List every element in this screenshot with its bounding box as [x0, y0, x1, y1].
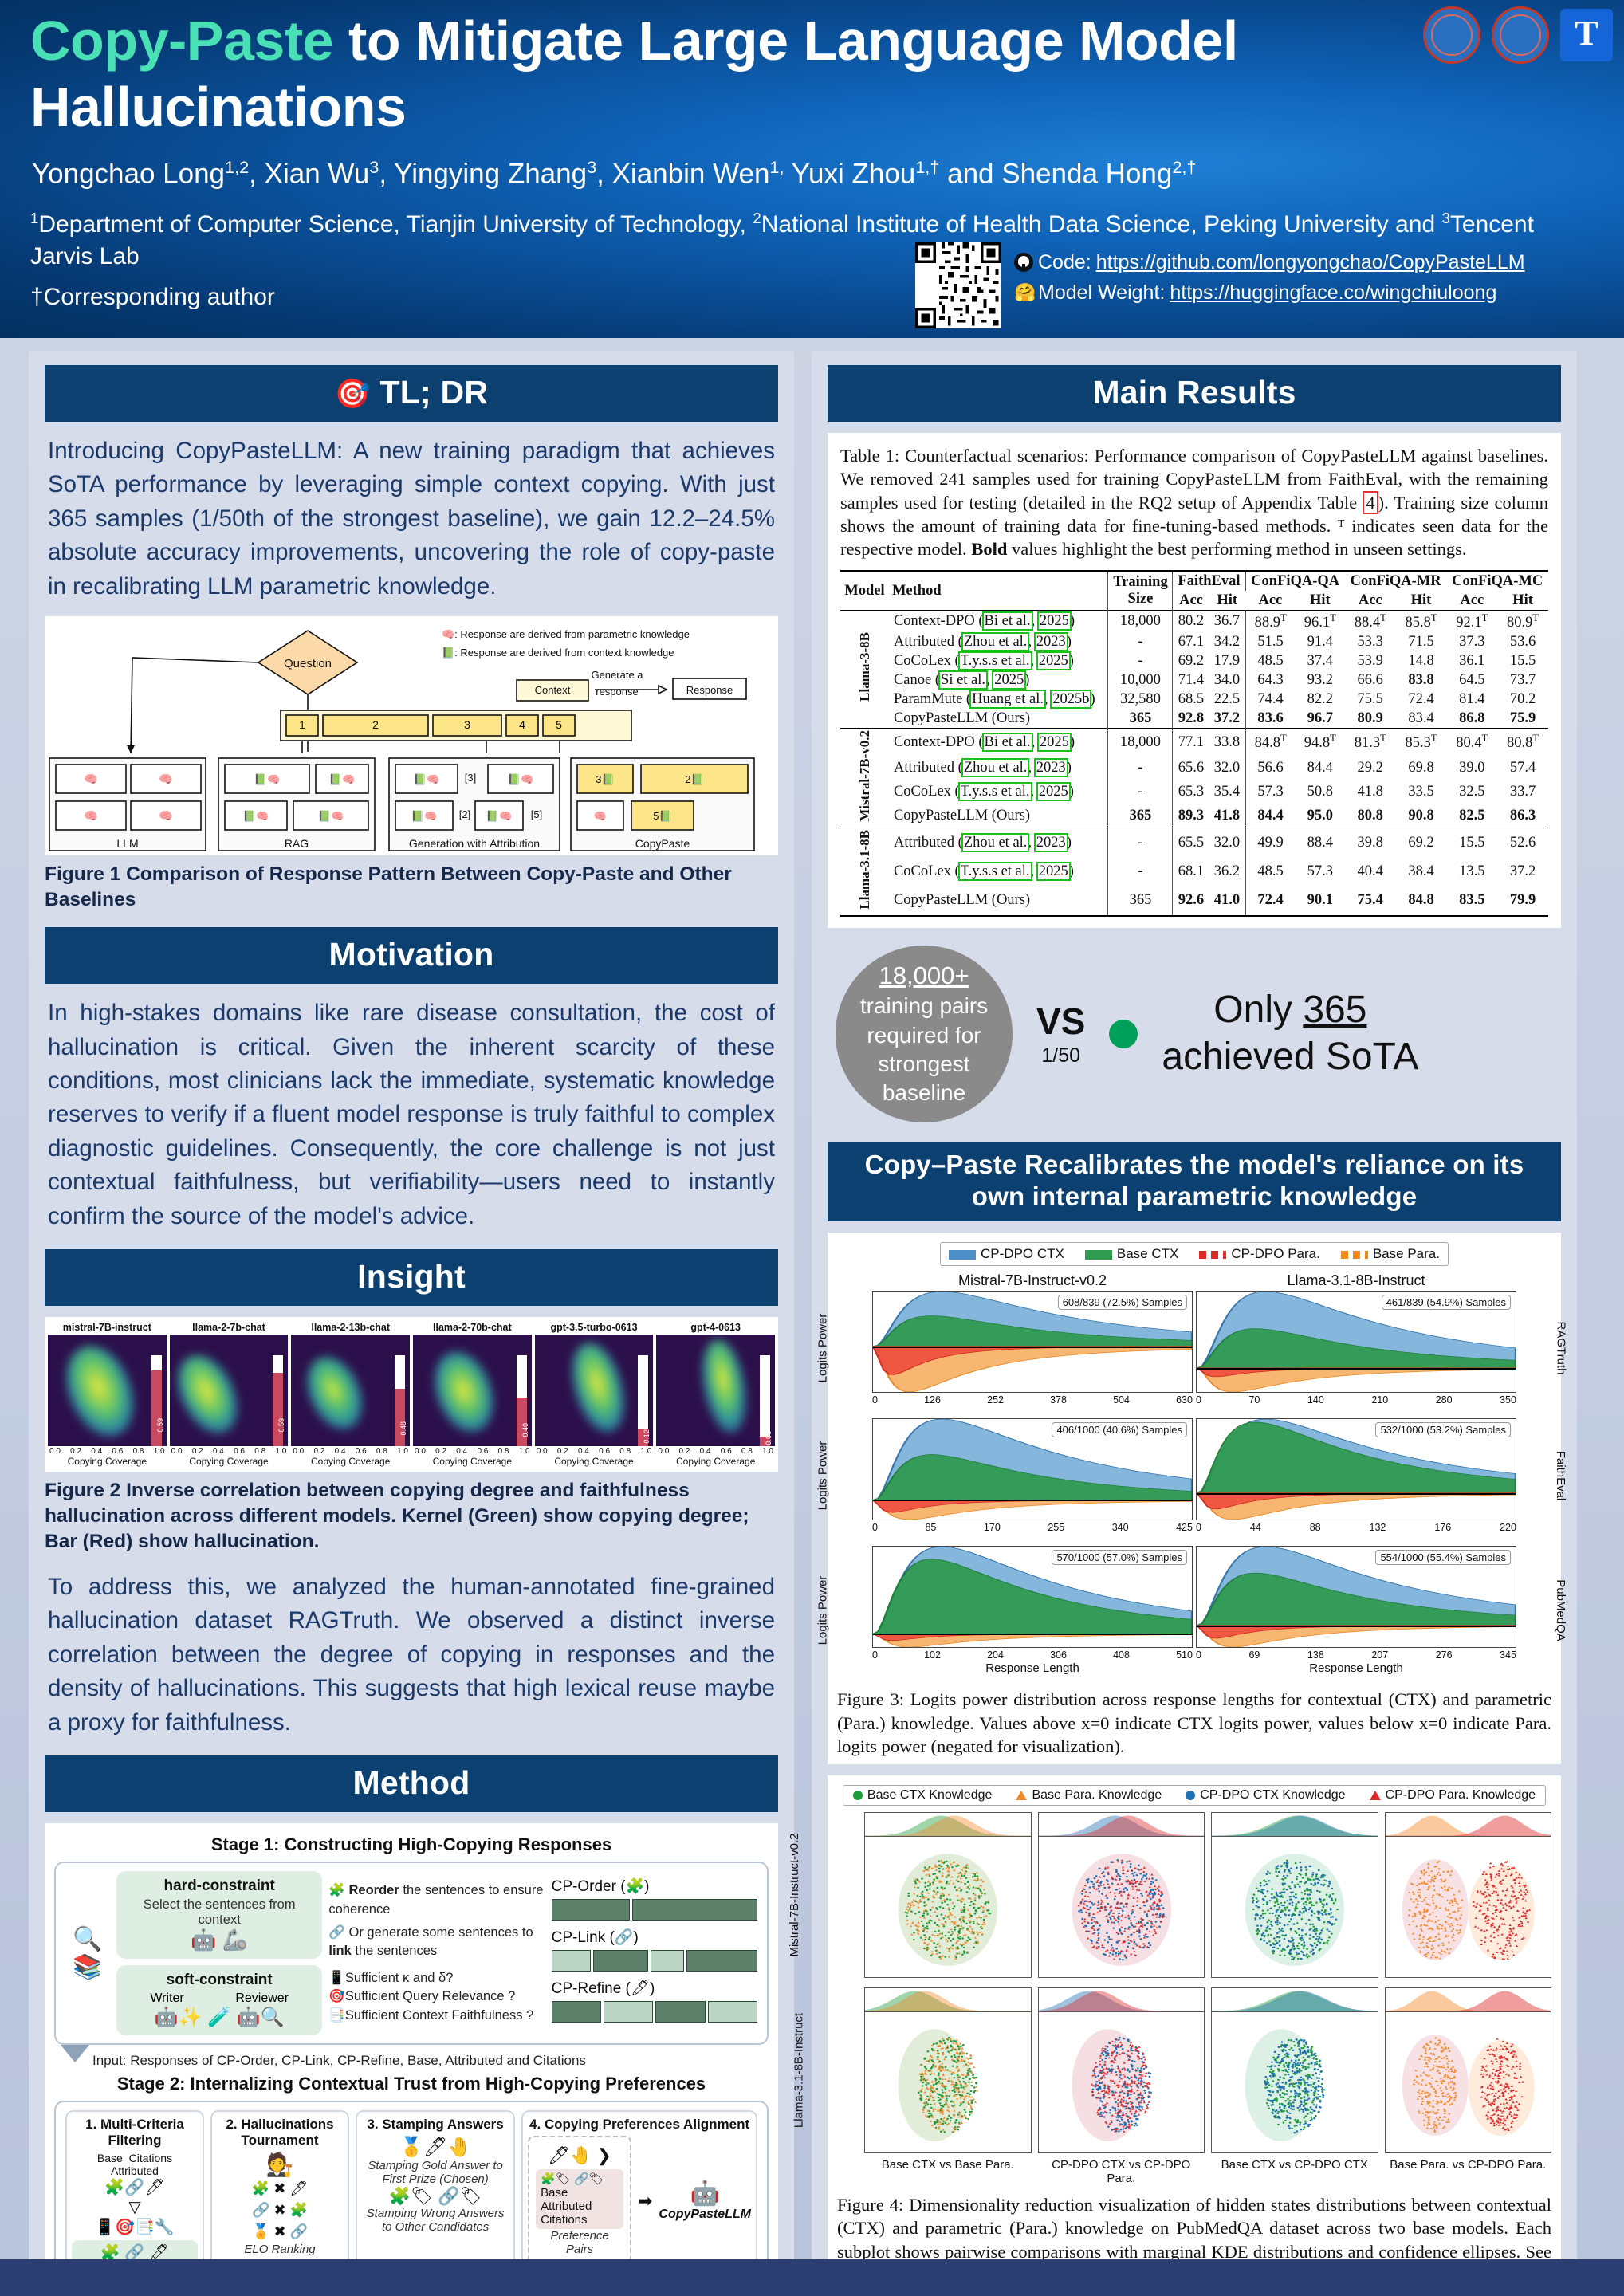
right-column: Main Results Table 1: Counterfactual sce… [812, 351, 1577, 2296]
svg-text:🧠: 🧠 [159, 809, 172, 822]
citation-year[interactable]: 2025 [1038, 653, 1069, 669]
bar-value: 0.59 [156, 1418, 164, 1433]
citation-author[interactable]: Zhou et al. [963, 835, 1028, 851]
col-confiqa-qa: ConFiQA-QA [1245, 571, 1345, 591]
figure-4-row-label: Llama-3.1-8B-Instruct [792, 2013, 805, 2128]
kde-xlabel: Copying Coverage [291, 1456, 410, 1467]
results-table: Model Method TrainingSize FaithEval ConF… [840, 570, 1548, 917]
metric-cell: 96.1T [1296, 611, 1345, 633]
kde-panel: llama-2-13b-chat 0.48 0.00.20.40.60.81.0… [291, 1322, 410, 1467]
metric-cell: 80.2 [1173, 611, 1209, 633]
metric-cell: 80.8T [1497, 729, 1548, 756]
scatter-plot [1038, 1836, 1205, 1978]
target-icon: 🎯 [335, 377, 371, 410]
citation-year[interactable]: 2025 [1038, 784, 1069, 800]
citation-year[interactable]: 2025 [1038, 863, 1069, 879]
section-header-method: Method [45, 1755, 778, 1812]
metric-cell: 85.3T [1396, 729, 1447, 756]
citation-author[interactable]: Huang et al. [971, 691, 1044, 707]
s2-3-title: 3. Stamping Answers [362, 2117, 509, 2133]
citation-author[interactable]: Bi et al. [984, 613, 1032, 629]
metric-cell: 37.4 [1296, 651, 1345, 670]
figure-4-panel [1211, 1812, 1378, 1978]
kde-xlabel: Copying Coverage [656, 1456, 775, 1467]
plot-area: 608/839 (72.5%) Samples-400-2000200400 [872, 1291, 1193, 1393]
baseline-circle: 18,000+ training pairs required for stro… [836, 946, 1013, 1122]
metric-cell: 88.4 [1296, 828, 1345, 858]
training-size: 18,000 [1108, 611, 1173, 633]
page-title: Copy-Paste to Mitigate Large Language Mo… [30, 8, 1338, 140]
chip [593, 1950, 648, 1972]
kde-plot: 0.12 [535, 1335, 654, 1446]
metric-cell: 90.8 [1396, 804, 1447, 828]
metric-cell: 68.5 [1173, 690, 1209, 709]
medal-stamp-icon: 🥇🖊🤚 [362, 2136, 509, 2159]
metric-cell: 91.4 [1296, 632, 1345, 651]
citation-author[interactable]: T.y.s.s et al. [960, 863, 1031, 879]
svg-text:5📗: 5📗 [653, 810, 671, 822]
col-method: Method [889, 571, 1108, 611]
metric-cell: 29.2 [1345, 756, 1396, 780]
weight-url[interactable]: https://huggingface.co/wingchiuloong [1170, 277, 1496, 308]
figure-4-rows: Mistral-7B-Instruct-v0.2 Llama-3.1-8B-In… [837, 1812, 1551, 2185]
figure-4-row [864, 1987, 1551, 2153]
citation-author[interactable]: Si et al. [940, 672, 986, 688]
metric-cell: 48.5 [1245, 651, 1296, 670]
metric-cell: 15.5 [1497, 651, 1548, 670]
baseline-desc: training pairs required for strongest ba… [836, 992, 1013, 1108]
citation-year[interactable]: 2023 [1036, 634, 1067, 650]
figure-4-col-labels: Base CTX vs Base Para.CP-DPO CTX vs CP-D… [864, 2156, 1551, 2185]
metric-cell: 33.8 [1209, 729, 1245, 756]
kde-plot: 0.06 [656, 1335, 775, 1446]
link-line: 🔗 Or generate some sentences to link the… [328, 1924, 545, 1961]
metric-cell: 92.8 [1173, 709, 1209, 729]
figure-3-panel: Logits Power608/839 (72.5%) Samples-400-… [872, 1291, 1193, 1406]
poster-root: Copy-Paste to Mitigate Large Language Mo… [0, 0, 1624, 2296]
metric-cell: 89.3 [1173, 804, 1209, 828]
metric-cell: 37.2 [1209, 709, 1245, 729]
poster-columns: 🎯 TL; DR Introducing CopyPasteLLM: A new… [0, 351, 1624, 2296]
citation-author[interactable]: T.y.s.s et al. [960, 653, 1031, 669]
citation-year[interactable]: 2025 [1039, 613, 1070, 629]
sub-hit: Hit [1497, 591, 1548, 611]
citation-year[interactable]: 2025 [993, 672, 1024, 688]
figure-4-panel [1038, 1812, 1205, 1978]
title-accent: Copy-Paste [30, 10, 333, 72]
legend-item: CP-DPO Para. Knowledge [1370, 1788, 1536, 1803]
sub-acc: Acc [1245, 591, 1296, 611]
figure-3-panel: PubMedQA554/1000 (55.4%) Samples05001000… [1196, 1546, 1516, 1675]
citation-year[interactable]: 2023 [1036, 760, 1067, 776]
code-url[interactable]: https://github.com/longyongchao/CopyPast… [1096, 247, 1525, 277]
metric-cell: 52.6 [1497, 828, 1548, 858]
marginal-kde-top [864, 1812, 1032, 1836]
scatter-plot [1385, 1836, 1552, 1978]
metric-cell: 85.8T [1396, 611, 1447, 633]
pku-logo [1492, 6, 1549, 64]
figure-4-panel [864, 1987, 1032, 2153]
axis-ticks-x: 069138207276345 [1196, 1648, 1516, 1661]
sample-count-badge: 570/1000 (57.0%) Samples [1052, 1550, 1187, 1565]
svg-text:2📗: 2📗 [685, 773, 703, 785]
metric-cell: 96.7 [1296, 709, 1345, 729]
check-2: 🎯Sufficient Query Relevance ? [328, 1987, 545, 2006]
metric-cell: 84.4 [1245, 804, 1296, 828]
figure-4-panel [1385, 1987, 1552, 2153]
axis-ticks-x: 0126252378504630 [872, 1393, 1193, 1406]
svg-text:🧠: 🧠 [159, 773, 172, 785]
writer-label: Writer [150, 1991, 183, 2006]
metric-cell: 69.2 [1173, 651, 1209, 670]
section-header-motivation: Motivation [45, 927, 778, 984]
reviewer-label: Reviewer [235, 1991, 289, 2006]
metric-cell: 80.8 [1345, 804, 1396, 828]
metric-cell: 66.6 [1345, 670, 1396, 690]
scatter-plot [1211, 2011, 1378, 2153]
hallucination-bar [151, 1370, 162, 1446]
tldr-body: Introducing CopyPasteLLM: A new training… [45, 433, 778, 603]
svg-text:[2]: [2] [459, 808, 470, 820]
metric-cell: 81.3T [1345, 729, 1396, 756]
kde-panel-title: gpt-3.5-turbo-0613 [535, 1322, 654, 1333]
model-name: Llama-3-8B [840, 611, 889, 729]
svg-text:Question: Question [284, 657, 332, 670]
legend-dot-base-ctx [853, 1791, 863, 1800]
figure-4-panel [1211, 1987, 1378, 2153]
vs-text: VS [1036, 1000, 1085, 1043]
citation-year[interactable]: 2023 [1036, 835, 1067, 851]
figure-1-caption: Figure 1 Comparison of Response Pattern … [45, 862, 778, 913]
citation-author[interactable]: Bi et al. [984, 734, 1032, 750]
metric-cell: 41.0 [1209, 886, 1245, 915]
metric-cell: 37.3 [1446, 632, 1497, 651]
stage1-box: 🔍📚 hard-constraint Select the sentences … [54, 1862, 769, 2045]
method-name: CoCoLex (T.y.s.s et al., 2025) [889, 651, 1108, 670]
reorder-line: 🧩 Reorder the sentences to ensure cohere… [328, 1881, 545, 1919]
metric-cell: 49.9 [1245, 828, 1296, 858]
metric-cell: 36.1 [1446, 651, 1497, 670]
table-1-caption: Table 1: Counterfactual scenarios: Perfo… [840, 444, 1548, 560]
metric-cell: 67.1 [1173, 632, 1209, 651]
metric-cell: 64.5 [1446, 670, 1497, 690]
section-header-tldr: 🎯 TL; DR [45, 365, 778, 422]
figure-2-caption: Figure 2 Inverse correlation between cop… [45, 1478, 778, 1555]
svg-text:response: response [596, 686, 638, 698]
kde-xaxis: 0.00.20.40.60.81.0 [413, 1446, 532, 1456]
citation-year[interactable]: 2025b [1052, 691, 1090, 707]
figure-4-row-label: Mistral-7B-Instruct-v0.2 [788, 1834, 801, 1957]
metric-cell: 53.9 [1345, 651, 1396, 670]
figure-3-caption: Figure 3: Logits power distribution acro… [837, 1688, 1551, 1758]
section-header-main-results: Main Results [828, 365, 1561, 422]
svg-text:Context: Context [535, 684, 571, 696]
tjut-logo [1423, 6, 1480, 64]
s2-4-title: 4. Copying Preferences Alignment [528, 2117, 751, 2133]
vs-fraction: 1/50 [1036, 1044, 1085, 1067]
training-size: - [1108, 632, 1173, 651]
svg-text:📗🧠: 📗🧠 [243, 810, 269, 822]
metric-cell: 69.8 [1396, 756, 1447, 780]
kde-xaxis: 0.00.20.40.60.81.0 [291, 1446, 410, 1456]
left-column: 🎯 TL; DR Introducing CopyPasteLLM: A new… [29, 351, 794, 2296]
sample-count-badge: 406/1000 (40.6%) Samples [1052, 1422, 1187, 1437]
chip [552, 1950, 591, 1972]
legend-dot-cpdpo-ctx [1186, 1791, 1195, 1800]
vs-label: VS 1/50 [1036, 1000, 1085, 1067]
sub-acc: Acc [1173, 591, 1209, 611]
metric-cell: 77.1 [1173, 729, 1209, 756]
metric-cell: 36.7 [1209, 611, 1245, 633]
section-header-recalibrate: Copy–Paste Recalibrates the model's reli… [828, 1142, 1561, 1222]
insight-body: To address this, we analyzed the human-a… [45, 1569, 778, 1740]
training-size: - [1108, 857, 1173, 886]
method-name: Canoe (Si et al., 2025) [889, 670, 1108, 690]
metric-cell: 64.3 [1245, 670, 1296, 690]
figure-4-col-label: Base CTX vs Base Para. [864, 2158, 1032, 2185]
method-name: Attributed (Zhou et al., 2023) [889, 632, 1108, 651]
kde-panel-title: mistral-7B-instruct [48, 1322, 167, 1333]
training-size: - [1108, 780, 1173, 804]
author-list: Yongchao Long1,2, Xian Wu3, Yingying Zha… [32, 156, 1579, 191]
results-table-wrap: Table 1: Counterfactual scenarios: Perfo… [828, 433, 1561, 928]
col-faitheval: FaithEval [1173, 571, 1245, 591]
results-table-body: Llama-3-8BContext-DPO (Bi et al., 2025)1… [840, 611, 1548, 916]
metric-cell: 71.5 [1396, 632, 1447, 651]
figure-1: Question 1 2 3 4 5 LLM RAG Generation wi… [45, 616, 778, 855]
stage2-title: Stage 2: Internalizing Contextual Trust … [54, 2074, 769, 2094]
match-list: 🧩 ✖ 🖊🔗 ✖ 🧩🏅 ✖ 🔗 [217, 2178, 343, 2243]
axis-label-y: Logits Power [816, 1314, 830, 1383]
figure-3-legend: CP-DPO CTX Base CTX CP-DPO Para. Base Pa… [940, 1242, 1449, 1266]
axis-ticks-x: 070140210280350 [1196, 1393, 1516, 1406]
figure-3-panel: FaithEval532/1000 (53.2%) Samples0500100… [1196, 1418, 1516, 1533]
figure-4: Base CTX Knowledge Base Para. Knowledge … [828, 1775, 1561, 2293]
axis-label-y: Logits Power [816, 1441, 830, 1511]
legend-item: CP-DPO Para. [1199, 1246, 1319, 1262]
metric-cell: 14.8 [1396, 651, 1447, 670]
metric-cell: 93.2 [1296, 670, 1345, 690]
figure-3-col-title: Mistral-7B-Instruct-v0.2 [872, 1272, 1193, 1289]
figure-3-col-title: Llama-3.1-8B-Instruct [1196, 1272, 1516, 1289]
axis-label-x: Response Length [872, 1661, 1193, 1675]
training-size: 365 [1108, 886, 1173, 915]
metric-cell: 33.5 [1396, 780, 1447, 804]
kde-panel-title: llama-2-7b-chat [170, 1322, 289, 1333]
legend-swatch-base-ctx [1085, 1250, 1112, 1260]
metric-cell: 88.4T [1345, 611, 1396, 633]
svg-text:🧠: 🧠 [594, 810, 607, 822]
method-name: CoCoLex (T.y.s.s et al., 2025) [889, 857, 1108, 886]
training-size: 365 [1108, 709, 1173, 729]
citation-author[interactable]: Zhou et al. [963, 760, 1028, 776]
plot-area: 406/1000 (40.6%) Samples0200400600 [872, 1418, 1193, 1520]
method-name: CopyPasteLLM (Ours) [889, 886, 1108, 915]
metric-cell: 75.4 [1345, 886, 1396, 915]
metric-cell: 48.5 [1245, 857, 1296, 886]
hard-constraint-text: Select the sentences from context [124, 1897, 314, 1928]
bar-value: 0.48 [399, 1421, 407, 1436]
svg-text:5: 5 [556, 718, 562, 731]
weights-link-row[interactable]: 🤗 Model Weight: https://huggingface.co/w… [1014, 277, 1525, 308]
metric-cell: 80.4T [1446, 729, 1497, 756]
search-and-books-icons: 🔍📚 [65, 1925, 110, 1981]
chip [632, 1899, 757, 1921]
marginal-kde-top [1385, 1987, 1552, 2011]
bar-value: 0.40 [521, 1423, 529, 1437]
citation-author[interactable]: Zhou et al. [963, 634, 1028, 650]
links-block: Code: https://github.com/longyongchao/Co… [1014, 247, 1525, 308]
metric-cell: 69.2 [1396, 828, 1447, 858]
kde-panel-title: gpt-4-0613 [656, 1322, 775, 1333]
svg-text:2: 2 [372, 718, 379, 731]
chip [655, 2001, 705, 2023]
metric-cell: 74.4 [1245, 690, 1296, 709]
sub-acc: Acc [1345, 591, 1396, 611]
metric-cell: 72.4 [1245, 886, 1296, 915]
metric-cell: 83.4 [1396, 709, 1447, 729]
metric-cell: 65.3 [1173, 780, 1209, 804]
kde-xlabel: Copying Coverage [170, 1456, 289, 1467]
kde-xlabel: Copying Coverage [413, 1456, 532, 1467]
metric-cell: 94.8T [1296, 729, 1345, 756]
s2-1-title: 1. Multi-Criteria Filtering [72, 2117, 198, 2149]
svg-text:📗🧠: 📗🧠 [411, 810, 437, 822]
bar-value: 0.12 [643, 1429, 651, 1444]
model-name: Llama-3.1-8B [840, 828, 889, 916]
appendix-table-ref[interactable]: 4 [1363, 491, 1378, 514]
method-name: Attributed (Zhou et al., 2023) [889, 828, 1108, 858]
plot-area: 554/1000 (55.4%) Samples050010001500 [1196, 1546, 1516, 1648]
metric-cell: 65.6 [1173, 756, 1209, 780]
metric-cell: 34.0 [1209, 670, 1245, 690]
training-size: 32,580 [1108, 690, 1173, 709]
metric-cell: 33.7 [1497, 780, 1548, 804]
legend-tri-base-para [1016, 1791, 1027, 1800]
axis-ticks-x: 0102204306408510 [872, 1648, 1193, 1661]
cp-refine-item: CP-Refine (🖊) [552, 1979, 757, 2023]
hard-constraint-title: hard-constraint [124, 1877, 314, 1895]
sub-acc: Acc [1446, 591, 1497, 611]
kde-panel-title: llama-2-70b-chat [413, 1322, 532, 1333]
figure-3-panel: RAGTruth461/839 (54.9%) Samples050010000… [1196, 1291, 1516, 1406]
s2-3-a: Stamping Gold Answer to First Prize (Cho… [362, 2159, 509, 2186]
kde-xaxis: 0.00.20.40.60.81.0 [656, 1446, 775, 1456]
metric-cell: 57.3 [1245, 780, 1296, 804]
code-label: Code: [1038, 247, 1091, 277]
qr-code [915, 242, 1001, 328]
svg-text:📗🧠: 📗🧠 [414, 773, 439, 785]
legend-swatch-cpdpo-para [1199, 1251, 1226, 1259]
s2-4-footer: Preference Pairs [536, 2229, 623, 2256]
figure-4-col-label: Base CTX vs CP-DPO CTX [1211, 2158, 1378, 2185]
hard-constraint-card: hard-constraint Select the sentences fro… [116, 1871, 322, 1959]
legend-tri-cpdpo-para [1370, 1791, 1381, 1800]
marginal-kde-top [1038, 1987, 1205, 2011]
link-pre: Or generate some sentences to [349, 1925, 533, 1940]
footer-bar [0, 2259, 1624, 2296]
figure-2: mistral-7B-instruct 0.59 0.00.20.40.60.8… [45, 1317, 778, 1472]
metric-cell: 32.5 [1446, 780, 1497, 804]
method-name: Context-DPO (Bi et al., 2025) [889, 611, 1108, 633]
s2-1-tri-labels: Base CitationsAttributed [72, 2152, 198, 2177]
citation-author[interactable]: T.y.s.s et al. [960, 784, 1031, 800]
metric-cell: 38.4 [1396, 857, 1447, 886]
kde-panel: gpt-4-0613 0.06 0.00.20.40.60.81.0 Copyi… [656, 1322, 775, 1467]
col-confiqa-mc: ConFiQA-MC [1446, 571, 1548, 591]
training-size: 18,000 [1108, 729, 1173, 756]
svg-text:🧠: 🧠 [84, 773, 97, 785]
chip [686, 1950, 757, 1972]
sample-count-badge: 532/1000 (53.2%) Samples [1375, 1422, 1511, 1437]
scatter-plot [1211, 1836, 1378, 1978]
kde-xlabel: Copying Coverage [48, 1456, 167, 1467]
svg-text:📗🧠: 📗🧠 [508, 773, 533, 785]
svg-text:[3]: [3] [465, 772, 476, 784]
citation-year[interactable]: 2025 [1039, 734, 1070, 750]
figure-4-panel [1385, 1812, 1552, 1978]
metric-cell: 37.2 [1497, 857, 1548, 886]
s2-2-footer: ELO Ranking [217, 2243, 343, 2256]
metric-cell: 57.3 [1296, 857, 1345, 886]
metric-cell: 83.8 [1396, 670, 1447, 690]
kde-xaxis: 0.00.20.40.60.81.0 [535, 1446, 654, 1456]
svg-text:1: 1 [299, 718, 305, 731]
metric-cell: 72.4 [1396, 690, 1447, 709]
axis-ticks-x: 04488132176220 [1196, 1520, 1516, 1533]
chip [708, 2001, 757, 2023]
figure-3-panel: Logits Power406/1000 (40.6%) Samples0200… [872, 1418, 1193, 1533]
metric-cell: 68.1 [1173, 857, 1209, 886]
link-bold: link [328, 1944, 351, 1958]
col-confiqa-mr: ConFiQA-MR [1345, 571, 1447, 591]
metric-cell: 84.8 [1396, 886, 1447, 915]
metric-cell: 70.2 [1497, 690, 1548, 709]
svg-text:📗🧠: 📗🧠 [329, 773, 355, 785]
marginal-kde-top [1211, 1812, 1378, 1836]
s2-4-output: CopyPasteLLM [659, 2208, 751, 2222]
training-size: - [1108, 651, 1173, 670]
metric-cell: 53.6 [1497, 632, 1548, 651]
scatter-plot [1038, 2011, 1205, 2153]
comparison-row: 18,000+ training pairs required for stro… [836, 946, 1561, 1122]
stage1-outputs: CP-Order (🧩) CP-Link (🔗) CP-Refine (🖊) [552, 1877, 757, 2030]
link-post: the sentences [352, 1944, 437, 1958]
code-link-row[interactable]: Code: https://github.com/longyongchao/Co… [1014, 247, 1525, 277]
green-dot-icon [1109, 1020, 1138, 1048]
svg-text:[5]: [5] [531, 808, 542, 820]
figure-3-row: Logits Power608/839 (72.5%) Samples-400-… [872, 1291, 1516, 1406]
legend-swatch-base-para [1341, 1251, 1368, 1259]
metric-cell: 41.8 [1209, 804, 1245, 828]
method-name: Context-DPO (Bi et al., 2025) [889, 729, 1108, 756]
metric-cell: 95.0 [1296, 804, 1345, 828]
training-size: - [1108, 828, 1173, 858]
huggingface-icon: 🤗 [1014, 283, 1033, 302]
figure-4-panel [1038, 1987, 1205, 2153]
ours-count: 365 [1303, 989, 1366, 1031]
metric-cell: 81.4 [1446, 690, 1497, 709]
corresponding-author-note: †Corresponding author [30, 284, 275, 311]
training-size: - [1108, 756, 1173, 780]
metric-cell: 82.2 [1296, 690, 1345, 709]
cp-link-item: CP-Link (🔗) [552, 1928, 757, 1972]
wrong-tags-icon: 🧩🏷 🔗🏷 [362, 2186, 509, 2207]
metric-cell: 41.8 [1345, 780, 1396, 804]
method-name: CopyPasteLLM (Ours) [889, 804, 1108, 828]
metric-cell: 71.4 [1173, 670, 1209, 690]
rejected-list: 🧩🏷 🔗🏷 Base Attributed Citations [536, 2169, 623, 2229]
